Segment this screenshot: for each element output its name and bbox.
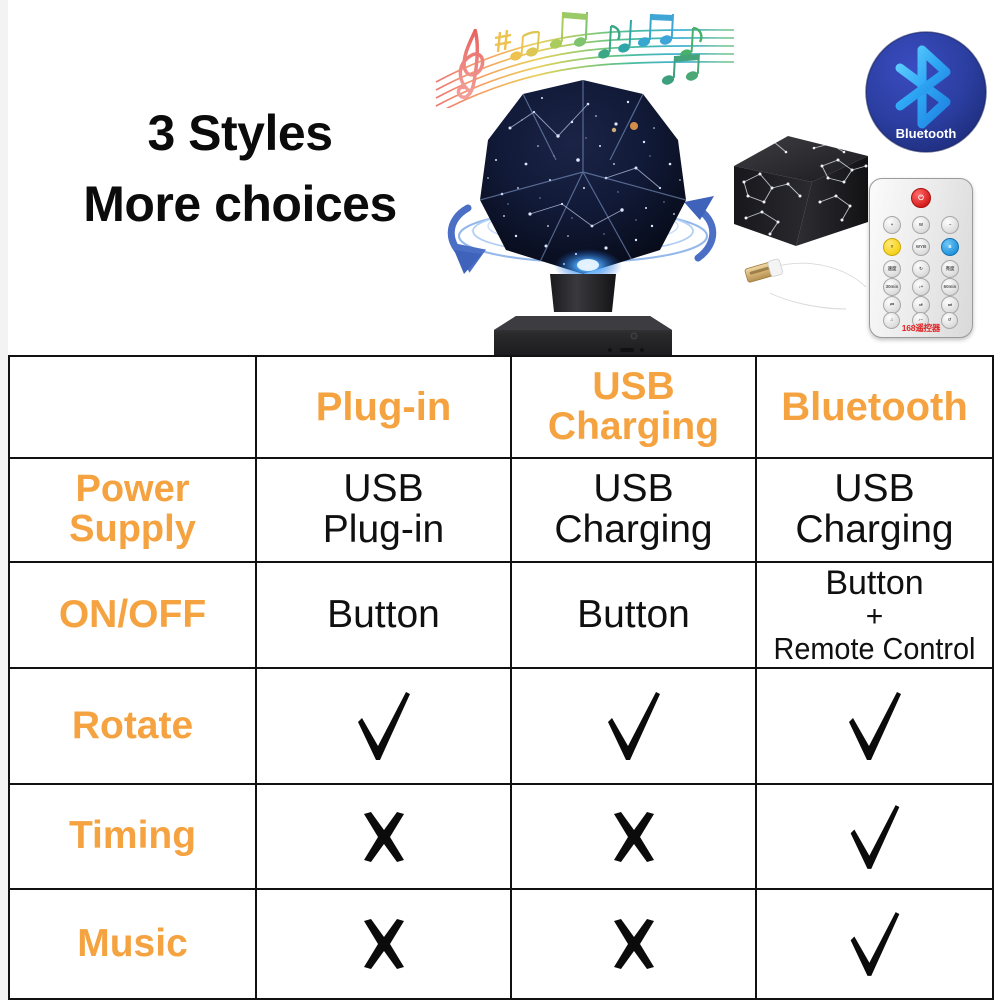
table-header-row: Plug-in USB Charging Bluetooth (9, 356, 993, 458)
row-label-timing-text: Timing (69, 814, 196, 857)
cell-power-supply-usb-charging: USB Charging (511, 458, 756, 562)
constellation-gift-box (726, 126, 876, 254)
star-projector-lamp (438, 68, 728, 360)
usb-cable (740, 246, 882, 322)
row-label-on-off-text: ON/OFF (59, 593, 206, 636)
row-label-power-supply: Power Supply (9, 458, 256, 562)
hero-section: 3 Styles More choices (0, 0, 1000, 352)
remote-wyb-button[interactable]: WYB (912, 238, 930, 256)
headline-line-2: More choices (40, 175, 440, 234)
cell-on-off-usb-charging-text: Button (577, 593, 690, 636)
remote-volume-up-button[interactable]: ♪+ (912, 278, 930, 296)
table-row: ON/OFF Button Button Button + Remote Con… (9, 562, 993, 668)
cell-power-supply-usb-charging-line2: Charging (516, 510, 751, 551)
cell-on-off-bluetooth-line3: Remote Control (769, 632, 980, 665)
remote-control: ⏻ + W − Y WYB B 速度 ↻ 亮度 30min ♪+ 60min ⏮… (869, 178, 973, 338)
cell-rotate-plugin (256, 668, 511, 784)
cross-icon (357, 917, 411, 971)
table-row: Timing (9, 784, 993, 889)
remote-w-button[interactable]: W (912, 216, 930, 234)
table-header-plugin-label: Plug-in (316, 385, 452, 429)
check-icon (843, 688, 907, 764)
cell-timing-plugin (256, 784, 511, 889)
cell-power-supply-bluetooth-line2: Charging (761, 510, 988, 551)
check-icon (845, 908, 905, 980)
remote-plus-button[interactable]: + (883, 216, 901, 234)
remote-speed-button[interactable]: 速度 (883, 260, 901, 278)
table-row: Rotate (9, 668, 993, 784)
table-row: Power Supply USB Plug-in USB Charging US… (9, 458, 993, 562)
product-comparison-page: 3 Styles More choices (0, 0, 1000, 1000)
page-title: 3 Styles More choices (40, 104, 440, 234)
remote-brightness-button[interactable]: 亮度 (941, 260, 959, 278)
spec-comparison-table: Plug-in USB Charging Bluetooth Power Sup… (8, 355, 994, 1000)
cell-power-supply-plugin-line1: USB (261, 469, 506, 510)
cell-power-supply-usb-charging-line1: USB (516, 469, 751, 510)
table-header-usb-charging: USB Charging (511, 356, 756, 458)
cell-on-off-plugin: Button (256, 562, 511, 668)
remote-minus-button[interactable]: − (941, 216, 959, 234)
table-header-plugin: Plug-in (256, 356, 511, 458)
row-label-power-supply-line2: Supply (14, 510, 251, 550)
remote-timer-30min-button[interactable]: 30min (883, 278, 901, 296)
table-header-bluetooth-label: Bluetooth (781, 385, 968, 429)
cell-on-off-bluetooth-plus: + (761, 602, 988, 632)
row-label-music: Music (9, 889, 256, 999)
cell-on-off-bluetooth-line1: Button (761, 565, 988, 602)
cell-timing-bluetooth (756, 784, 993, 889)
row-label-rotate: Rotate (9, 668, 256, 784)
cell-rotate-usb-charging (511, 668, 756, 784)
table-header-usb-charging-line1: USB (592, 365, 674, 408)
cell-power-supply-plugin: USB Plug-in (256, 458, 511, 562)
row-label-rotate-text: Rotate (72, 704, 193, 747)
row-label-on-off: ON/OFF (9, 562, 256, 668)
remote-model-label: 168遥控器 (869, 322, 973, 334)
cross-icon (357, 810, 411, 864)
cell-power-supply-plugin-line2: Plug-in (261, 510, 506, 551)
table-header-bluetooth: Bluetooth (756, 356, 993, 458)
remote-b-button[interactable]: B (941, 238, 959, 256)
cell-power-supply-bluetooth: USB Charging (756, 458, 993, 562)
cell-music-plugin (256, 889, 511, 999)
cell-music-bluetooth (756, 889, 993, 999)
cell-on-off-plugin-text: Button (327, 593, 440, 636)
cell-on-off-bluetooth: Button + Remote Control (756, 562, 993, 668)
cross-icon (607, 810, 661, 864)
cell-power-supply-bluetooth-line1: USB (761, 469, 988, 510)
remote-timer-60min-button[interactable]: 60min (941, 278, 959, 296)
headline-line-1: 3 Styles (40, 104, 440, 163)
check-icon (602, 688, 666, 764)
remote-y-button[interactable]: Y (883, 238, 901, 256)
table-header-corner-cell (9, 356, 256, 458)
row-label-timing: Timing (9, 784, 256, 889)
bluetooth-badge: Bluetooth Bluetooth (862, 28, 990, 156)
row-label-music-text: Music (77, 922, 188, 965)
cell-timing-usb-charging (511, 784, 756, 889)
check-icon (352, 688, 416, 764)
check-icon (845, 801, 905, 873)
remote-rotate-button[interactable]: ↻ (912, 260, 930, 278)
cell-on-off-usb-charging: Button (511, 562, 756, 668)
remote-power-button[interactable]: ⏻ (911, 188, 931, 208)
cell-music-usb-charging (511, 889, 756, 999)
cell-rotate-bluetooth (756, 668, 993, 784)
table-header-usb-charging-line2: Charging (548, 405, 719, 448)
cross-icon (607, 917, 661, 971)
row-label-power-supply-line1: Power (14, 470, 251, 510)
table-row: Music (9, 889, 993, 999)
